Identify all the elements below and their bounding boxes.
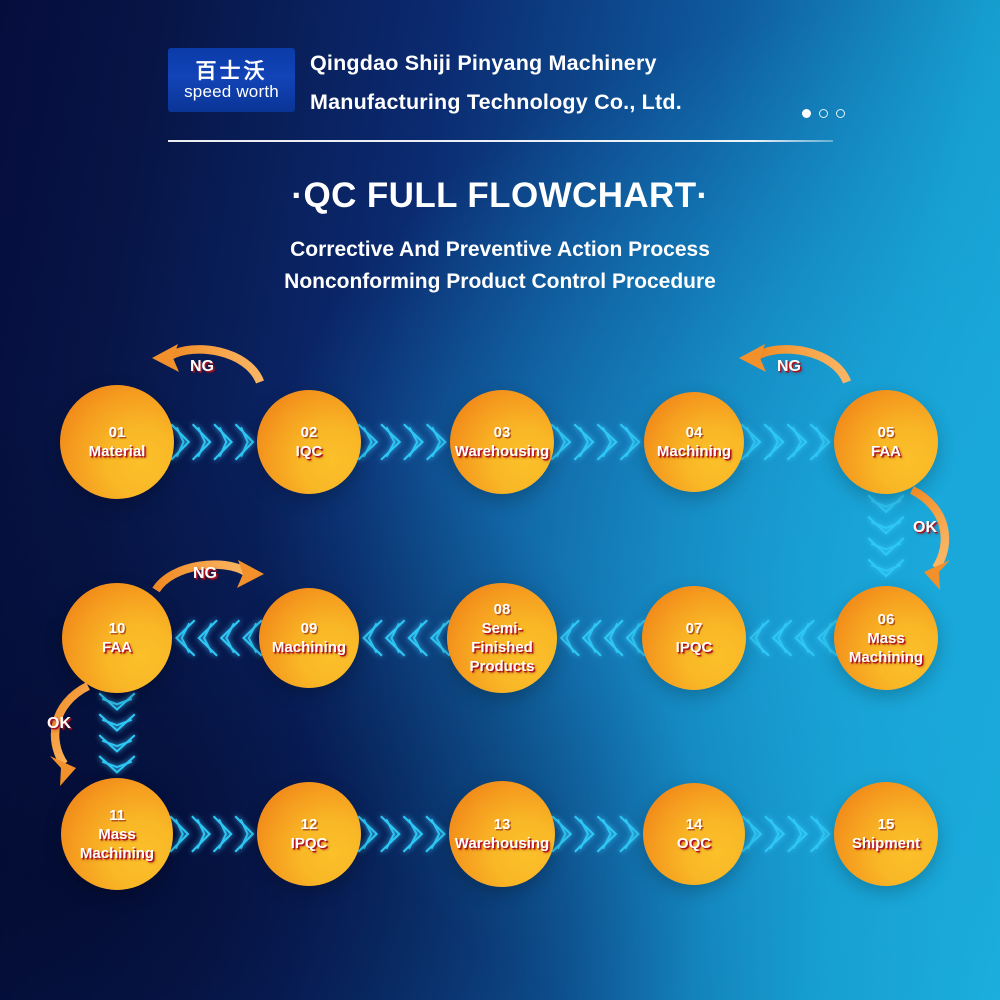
flow-node-number: 07: [686, 619, 703, 638]
flow-node-label: FAA: [867, 442, 905, 461]
ng-label-row1-right: NG: [777, 358, 801, 376]
connector-chevrons-row2-3: [553, 612, 646, 664]
flow-node-number: 15: [878, 815, 895, 834]
dot-filled-icon: [802, 109, 811, 118]
flow-node-number: 08: [494, 600, 511, 619]
flow-node-12[interactable]: 12IPQC: [257, 782, 361, 886]
flow-node-number: 04: [686, 423, 703, 442]
connector-chevrons-row1-3: [550, 416, 648, 468]
flow-node-number: 06: [878, 610, 895, 629]
connector-chevrons-row3-2: [357, 808, 453, 860]
flow-node-04[interactable]: 04Machining: [644, 392, 744, 492]
company-logo: 百士沃 speed worth: [168, 48, 295, 112]
dot-outline-icon-2: [836, 109, 845, 118]
flow-node-label: Machining: [653, 442, 735, 461]
flow-node-number: 01: [109, 423, 126, 442]
connector-chevrons-row1-2: [357, 416, 454, 468]
subtitle-line1: Corrective And Preventive Action Process: [0, 234, 1000, 266]
flow-node-14[interactable]: 14OQC: [643, 783, 745, 885]
connector-chevrons-row1-4: [740, 416, 838, 468]
flow-node-label: IQC: [292, 442, 327, 461]
flow-node-11[interactable]: 11MassMachining: [61, 778, 173, 890]
flow-node-number: 11: [109, 806, 125, 825]
company-name: Qingdao Shiji Pinyang Machinery Manufact…: [310, 44, 830, 122]
flow-node-number: 13: [494, 815, 511, 834]
ok-label-05-to-06: OK: [913, 519, 937, 537]
connector-chevrons-row3-3: [551, 808, 647, 860]
page-subtitle: Corrective And Preventive Action Process…: [0, 234, 1000, 298]
flow-node-label: Semi-FinishedProducts: [465, 619, 538, 676]
header-dots: [802, 109, 845, 118]
ok-arrow-10-to-11: [36, 682, 98, 790]
flow-node-label: IPQC: [672, 638, 717, 657]
connector-chevrons-row2-2: [355, 612, 451, 664]
flow-node-number: 05: [878, 423, 895, 442]
flow-node-label: Shipment: [848, 834, 924, 853]
flow-node-01[interactable]: 01Material: [60, 385, 174, 499]
connector-chevrons-row2-4: [742, 612, 838, 664]
flow-node-label: MassMachining: [845, 629, 927, 667]
flow-node-09[interactable]: 09Machining: [259, 588, 359, 688]
flow-node-label: IPQC: [287, 834, 332, 853]
flow-node-05[interactable]: 05FAA: [834, 390, 938, 494]
flow-node-15[interactable]: 15Shipment: [834, 782, 938, 886]
flow-node-label: OQC: [673, 834, 715, 853]
flow-node-number: 14: [686, 815, 703, 834]
flow-node-label: Material: [85, 442, 150, 461]
dot-outline-icon-1: [819, 109, 828, 118]
connector-chevrons-row3-1: [169, 808, 261, 860]
header-divider: [168, 140, 833, 142]
flow-node-number: 10: [109, 619, 126, 638]
ok-arrow-05-to-06: [906, 486, 968, 594]
flow-node-03[interactable]: 03Warehousing: [450, 390, 554, 494]
qc-flowchart-page: 百士沃 speed worth Qingdao Shiji Pinyang Ma…: [0, 0, 1000, 1000]
flow-node-06[interactable]: 06MassMachining: [834, 586, 938, 690]
flow-node-number: 12: [301, 815, 318, 834]
company-name-line1: Qingdao Shiji Pinyang Machinery: [310, 44, 830, 83]
flow-node-label: Machining: [268, 638, 350, 657]
flow-node-number: 09: [301, 619, 318, 638]
flow-node-label: Warehousing: [451, 442, 553, 461]
connector-chevrons-row2-1: [168, 612, 263, 664]
flow-node-number: 02: [301, 423, 318, 442]
connector-chevrons-row3-4: [741, 808, 838, 860]
flow-node-number: 03: [494, 423, 511, 442]
flow-node-08[interactable]: 08Semi-FinishedProducts: [447, 583, 557, 693]
flow-node-label: Warehousing: [451, 834, 553, 853]
ok-label-10-to-11: OK: [47, 715, 71, 733]
flow-node-label: FAA: [98, 638, 136, 657]
logo-chinese-text: 百士沃: [196, 61, 268, 82]
flow-node-13[interactable]: 13Warehousing: [449, 781, 555, 887]
subtitle-line2: Nonconforming Product Control Procedure: [0, 266, 1000, 298]
logo-english-text: speed worth: [184, 83, 279, 100]
flow-node-label: MassMachining: [76, 825, 158, 863]
flow-node-07[interactable]: 07IPQC: [642, 586, 746, 690]
flow-node-02[interactable]: 02IQC: [257, 390, 361, 494]
page-title: ·QC FULL FLOWCHART·: [0, 176, 1000, 216]
ng-label-row2-left: NG: [193, 565, 217, 583]
connector-chevrons-row1-1: [170, 416, 261, 468]
ng-label-row1-left: NG: [190, 358, 214, 376]
page-header: 百士沃 speed worth Qingdao Shiji Pinyang Ma…: [168, 48, 833, 144]
company-name-line2: Manufacturing Technology Co., Ltd.: [310, 83, 830, 122]
